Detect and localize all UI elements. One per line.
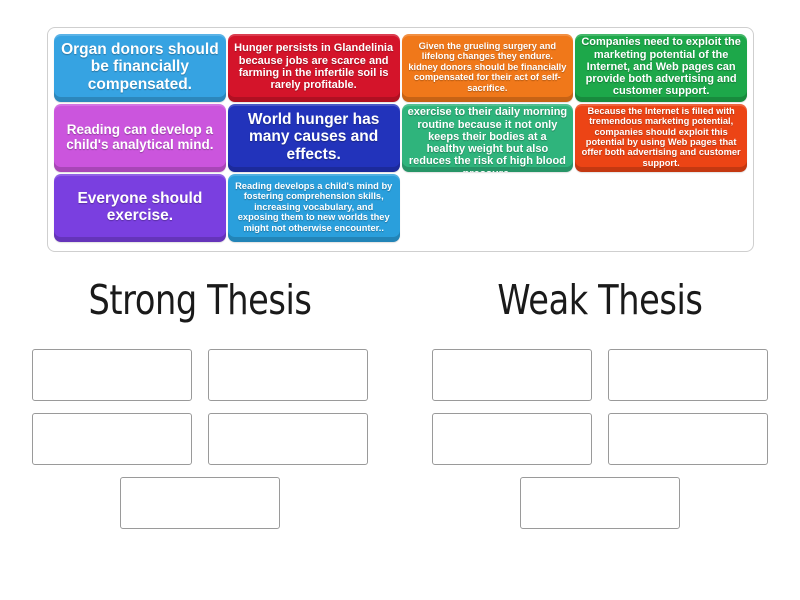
drop-slot[interactable]: [432, 413, 592, 465]
category-title-strong-thesis: Strong Thesis: [36, 280, 364, 321]
statement-tile[interactable]: Reading develops a child's mind by foste…: [228, 174, 400, 242]
statement-tile-text: Americans should add exercise to their d…: [408, 104, 568, 172]
statement-tile[interactable]: Companies need to exploit the marketing …: [575, 34, 747, 102]
drop-zone-group-weak-thesis: [400, 349, 800, 529]
tile-grid: Organ donors should be financially compe…: [54, 34, 747, 242]
drop-slot[interactable]: [120, 477, 280, 529]
drop-slot[interactable]: [608, 413, 768, 465]
statement-tile[interactable]: World hunger has many causes and effects…: [228, 104, 400, 172]
drop-slot[interactable]: [208, 413, 368, 465]
statement-tile-text: Reading develops a child's mind by foste…: [234, 181, 394, 233]
statement-tile-text: Everyone should exercise.: [60, 190, 220, 225]
drop-slot[interactable]: [208, 349, 368, 401]
drop-slot[interactable]: [432, 349, 592, 401]
tile-slot-empty: [402, 174, 574, 242]
tile-row: Everyone should exercise.Reading develop…: [54, 174, 747, 242]
statement-tile[interactable]: Organ donors should be financially compe…: [54, 34, 226, 102]
category-strong-thesis: Strong Thesis: [0, 280, 400, 529]
drop-slot[interactable]: [32, 413, 192, 465]
drop-zone-group-strong-thesis: [0, 349, 400, 529]
category-weak-thesis: Weak Thesis: [400, 280, 800, 529]
tile-slot-empty: [575, 174, 747, 242]
drop-slot[interactable]: [520, 477, 680, 529]
statement-tile[interactable]: Everyone should exercise.: [54, 174, 226, 242]
statement-tile[interactable]: Americans should add exercise to their d…: [402, 104, 574, 172]
drop-slot[interactable]: [608, 349, 768, 401]
statement-tile[interactable]: Given the grueling surgery and lifelong …: [402, 34, 574, 102]
statement-tile[interactable]: Reading can develop a child's analytical…: [54, 104, 226, 172]
statement-tile-text: Given the grueling surgery and lifelong …: [408, 41, 568, 93]
statement-tile-text: Organ donors should be financially compe…: [60, 41, 220, 93]
statement-tile[interactable]: Because the Internet is filled with trem…: [575, 104, 747, 172]
statement-tile-text: Reading can develop a child's analytical…: [60, 122, 220, 152]
category-title-weak-thesis: Weak Thesis: [436, 280, 764, 321]
statement-tile[interactable]: Hunger persists in Glandelinia because j…: [228, 34, 400, 102]
statement-tile-text: Because the Internet is filled with trem…: [581, 106, 741, 168]
drop-slot[interactable]: [32, 349, 192, 401]
group-sort-activity: Organ donors should be financially compe…: [0, 0, 800, 600]
tile-row: Organ donors should be financially compe…: [54, 34, 747, 102]
tile-row: Reading can develop a child's analytical…: [54, 104, 747, 172]
statement-tile-text: Hunger persists in Glandelinia because j…: [234, 42, 394, 91]
statement-tile-text: Companies need to exploit the marketing …: [581, 36, 741, 98]
statement-tile-tray: Organ donors should be financially compe…: [47, 27, 754, 252]
statement-tile-text: World hunger has many causes and effects…: [234, 111, 394, 163]
